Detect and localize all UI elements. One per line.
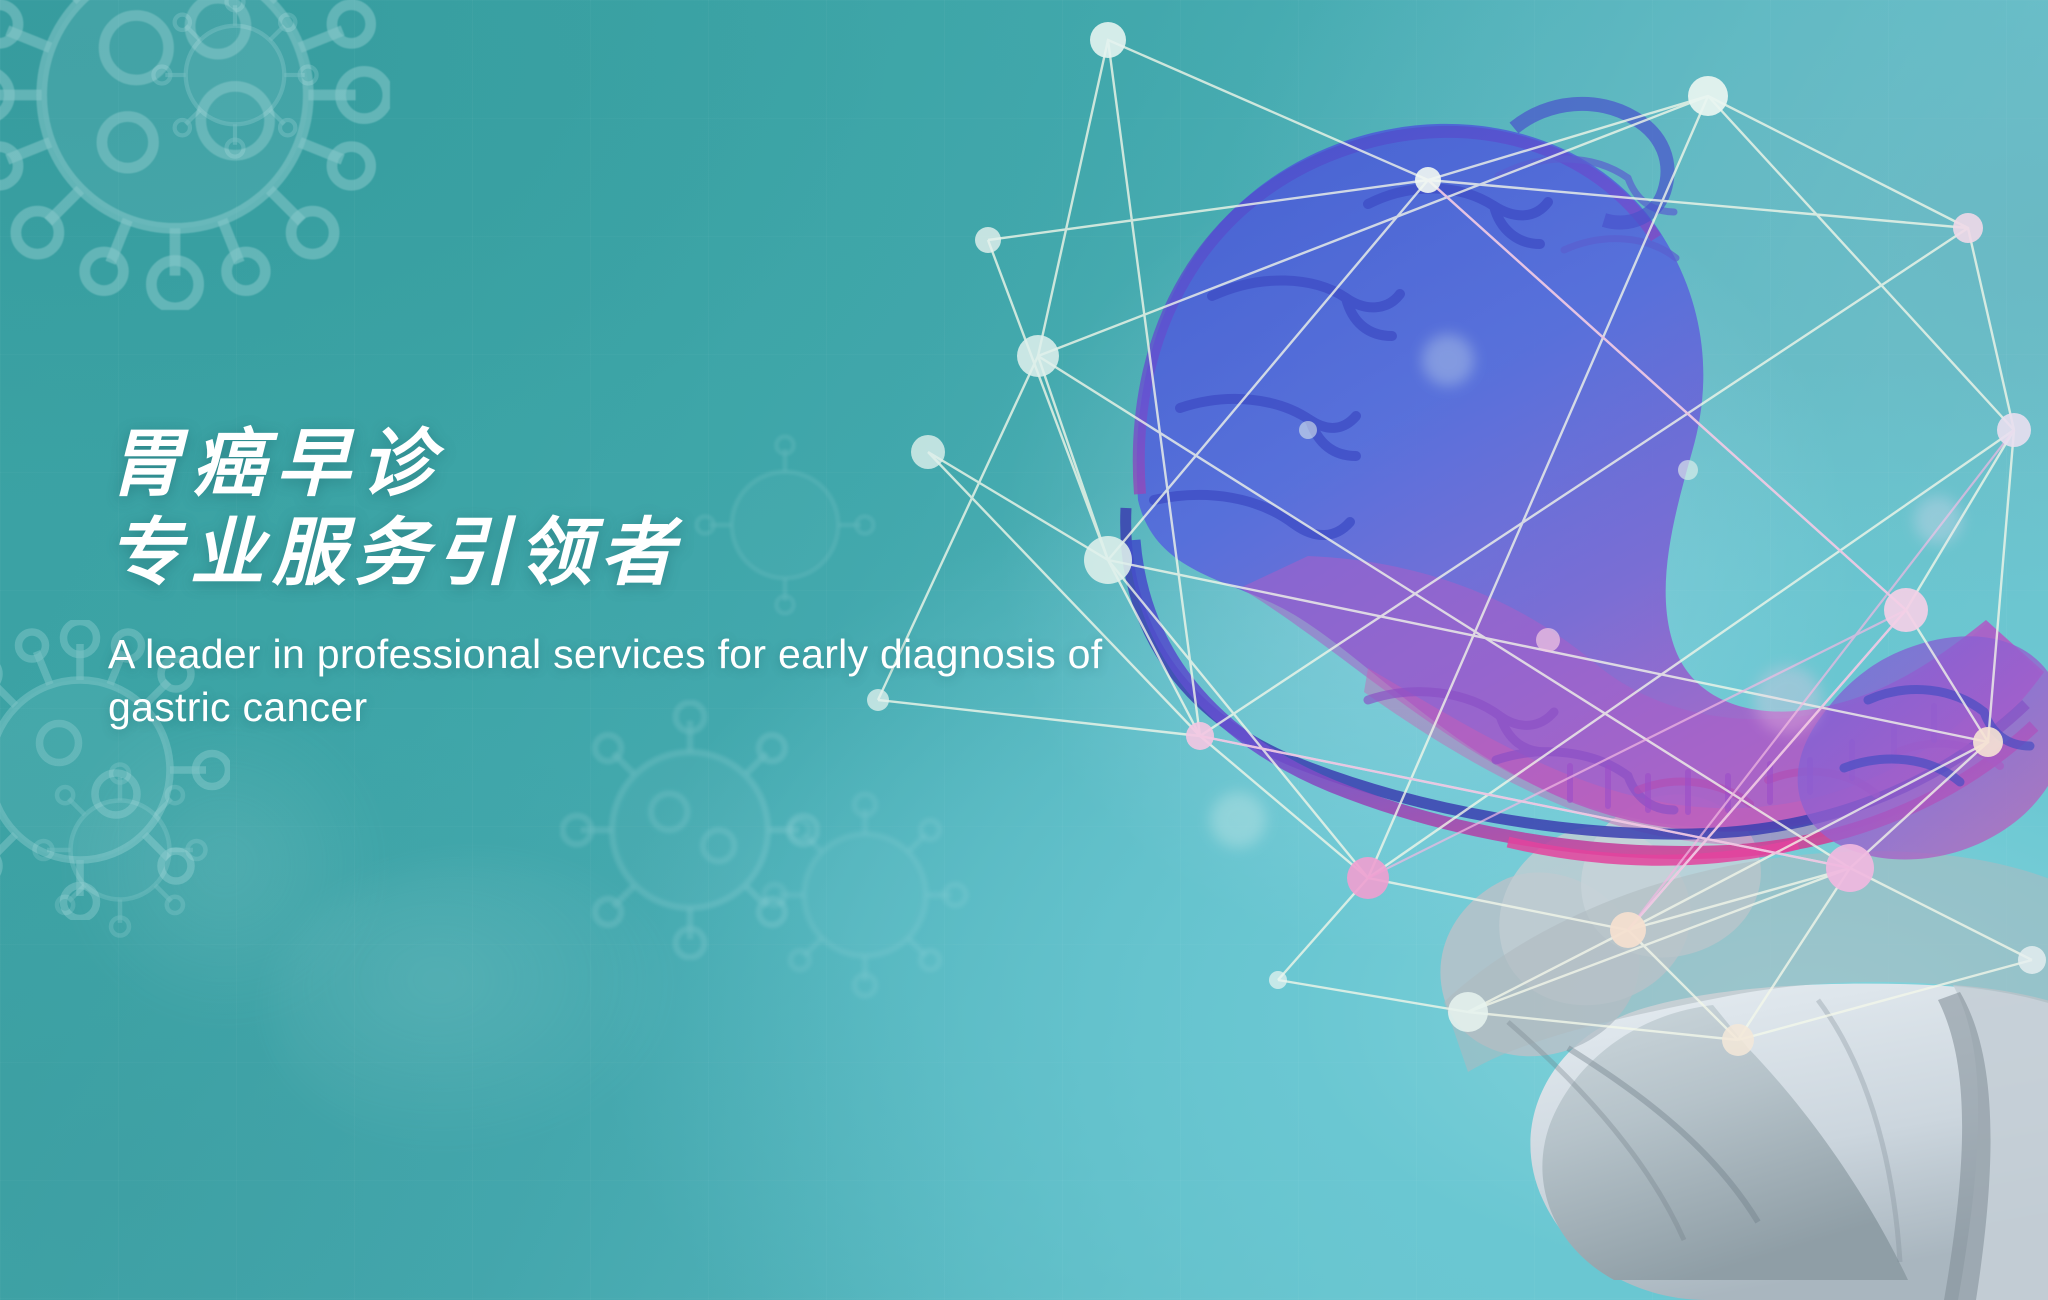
- hero-copy: 胃癌早诊 专业服务引领者 A leader in professional se…: [108, 420, 1108, 734]
- soft-glow-blob-wide: [270, 860, 690, 1160]
- headline-line-1: 胃癌早诊: [108, 420, 1108, 509]
- hero-banner: 胃癌早诊 专业服务引领者 A leader in professional se…: [0, 0, 2048, 1300]
- page-subtitle: A leader in professional services for ea…: [108, 628, 1108, 735]
- virus-motif-small-icon: [150, 0, 320, 160]
- headline-line-2: 专业服务引领者: [108, 509, 1108, 598]
- page-title: 胃癌早诊 专业服务引领者: [108, 420, 1108, 598]
- virus-motif-center-low-icon: [760, 790, 970, 1000]
